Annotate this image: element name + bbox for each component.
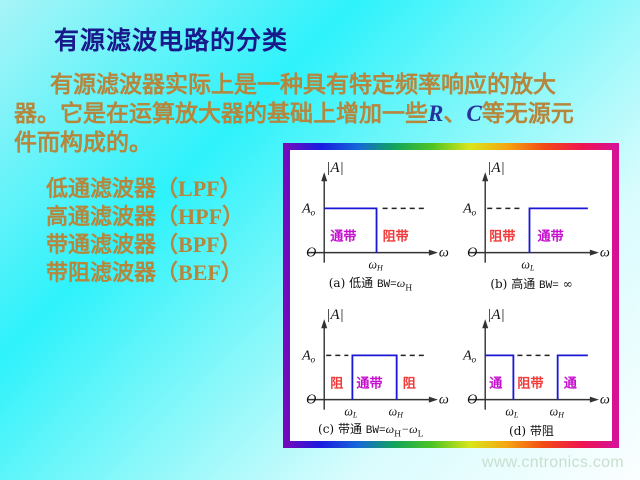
list-item: 带通滤波器（BPF） (46, 231, 244, 259)
variable-c: C (466, 101, 481, 126)
band-label-stop: 阻带 (489, 229, 515, 245)
caption-bw-label-a: BW= (377, 279, 397, 291)
band-label-stop: 阻带 (383, 229, 409, 245)
caption-bw-value-c: ω (386, 422, 394, 436)
panel-highpass: |A| Ao O ω ωL 阻带 通带 (b) 高通 BW= ∞ (451, 150, 612, 297)
caption-bw-value-a: ω (397, 276, 405, 290)
caption-index-b: (b) (490, 277, 507, 291)
filter-abbr-bpf: （BPF） (156, 232, 242, 257)
panel-bandstop: |A| Ao O ω ωL ωH 通 阻带 通 (d) 带阻 (451, 297, 612, 444)
tick-label-wl: ωL (521, 258, 535, 273)
caption-bw-value-b: ∞ (563, 277, 573, 291)
caption-type-a: 低通 (349, 276, 373, 290)
panel-caption-b: (b) 高通 BW= ∞ (451, 275, 612, 292)
axis-label-y: |A| (326, 160, 344, 176)
caption-bw-extra-c: −ω (401, 422, 418, 436)
filter-abbr-bef: （BEF） (156, 260, 243, 285)
paragraph-line-1: 有源滤波器实际上是一种具有特定频率响应的 (50, 71, 510, 98)
filter-name-lpf: 低通滤波器 (46, 176, 156, 202)
band-label-stop: 阻带 (517, 375, 543, 391)
level-label: Ao (462, 347, 477, 364)
origin-label: O (467, 392, 477, 408)
axis-label-x: ω (439, 392, 449, 408)
axis-label-y: |A| (487, 160, 505, 176)
tick-label-wh: ωH (368, 258, 384, 273)
filter-abbr-lpf: （LPF） (156, 176, 242, 201)
level-label: Ao (462, 200, 477, 217)
panel-caption-c: (c) 带通 BW=ωH−ωL (290, 420, 451, 438)
panel-bandpass: |A| Ao O ω ωL ωH 阻 通带 阻 (c) 带通 BW=ωH−ωL (290, 297, 451, 444)
axis-label-x: ω (439, 245, 449, 261)
axis-label-y: |A| (487, 307, 505, 323)
filter-name-bef: 带阻滤波器 (46, 260, 156, 286)
band-label-pass-left: 通 (489, 375, 503, 391)
band-label-pass: 通带 (538, 229, 564, 245)
origin-label: O (306, 392, 316, 408)
tick-label-wh: ωH (550, 405, 566, 420)
caption-index-a: (a) (329, 276, 346, 290)
caption-bw-label-b: BW= (539, 280, 559, 292)
tick-label-wl: ωL (505, 405, 519, 420)
caption-type-b: 高通 (511, 277, 535, 291)
caption-index-d: (d) (509, 424, 526, 438)
page-title: 有源滤波电路的分类 (54, 21, 288, 57)
slide-root: 有源滤波电路的分类 有源滤波器实际上是一种具有特定频率响应的放大器。它是在运算放… (0, 0, 640, 480)
axis-label-y: |A| (326, 307, 344, 323)
list-item: 低通滤波器（LPF） (46, 175, 244, 203)
level-label: Ao (301, 347, 316, 364)
figure-rainbow-frame: |A| Ao O ω ωH 通带 阻带 (a) 低通 BW=ωH (283, 143, 619, 448)
variable-r: R (428, 101, 443, 126)
tick-label-wh: ωH (389, 405, 405, 420)
filter-abbr-hpf: （HPF） (156, 204, 244, 229)
filter-name-bpf: 带通滤波器 (46, 232, 156, 258)
origin-label: O (306, 245, 316, 261)
list-item: 带阻滤波器（BEF） (46, 259, 244, 287)
filter-type-list: 低通滤波器（LPF） 高通滤波器（HPF） 带通滤波器（BPF） 带阻滤波器（B… (46, 175, 244, 287)
axis-label-x: ω (600, 245, 610, 261)
list-item: 高通滤波器（HPF） (46, 203, 244, 231)
caption-bw-extra-sub-c: L (418, 430, 423, 439)
level-label: Ao (301, 200, 316, 217)
watermark: www.cntronics.com (482, 454, 624, 472)
panel-caption-a: (a) 低通 BW=ωH (290, 274, 451, 292)
caption-bw-label-c: BW= (366, 425, 386, 437)
caption-index-c: (c) (318, 422, 334, 436)
panel-caption-d: (d) 带阻 (451, 422, 612, 439)
band-label-stop-right: 阻 (403, 375, 416, 391)
band-label-stop-left: 阻 (330, 375, 343, 391)
caption-bw-sub-a: H (405, 283, 412, 292)
band-label-pass: 通带 (356, 375, 382, 391)
axis-label-x: ω (600, 392, 610, 408)
filter-name-hpf: 高通滤波器 (46, 204, 156, 230)
figure-grid: |A| Ao O ω ωH 通带 阻带 (a) 低通 BW=ωH (290, 150, 612, 441)
tick-label-wl: ωL (344, 405, 358, 420)
panel-lowpass: |A| Ao O ω ωH 通带 阻带 (a) 低通 BW=ωH (290, 150, 451, 297)
caption-type-c: 带通 (338, 422, 362, 436)
paragraph-line-2b: 、 (443, 100, 466, 127)
caption-type-d: 带阻 (530, 424, 554, 438)
band-label-pass-right: 通 (564, 375, 578, 391)
origin-label: O (467, 245, 477, 261)
band-label-pass: 通带 (330, 229, 356, 245)
